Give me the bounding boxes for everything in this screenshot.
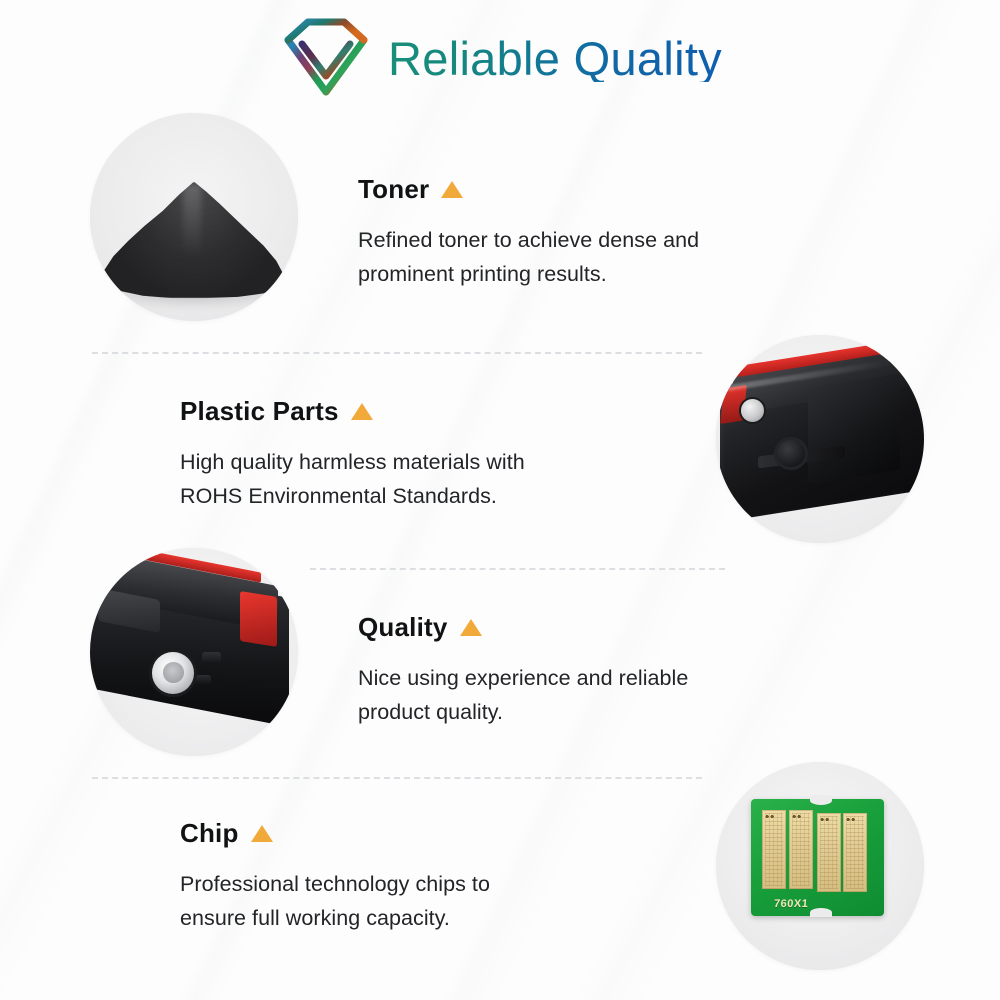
section-plastic-parts: Plastic Parts High quality harmless mate… (180, 398, 620, 514)
section-quality-title: Quality (358, 614, 448, 640)
chip-part-number: 760X1 (774, 898, 809, 910)
page-header: Reliable Quality (0, 8, 1000, 108)
orange-triangle-icon (441, 181, 463, 198)
section-quality: Quality Nice using experience and reliab… (358, 614, 778, 730)
orange-triangle-icon (351, 403, 373, 420)
printer-chip-photo: 760X1 (716, 762, 924, 970)
divider-2 (310, 568, 725, 570)
diamond-check-icon (278, 14, 374, 102)
section-toner-description: Refined toner to achieve dense and promi… (358, 224, 778, 292)
section-plastic-parts-title: Plastic Parts (180, 398, 339, 424)
section-toner-title: Toner (358, 176, 429, 202)
section-chip-title: Chip (180, 820, 239, 846)
section-chip-description: Professional technology chips to ensure … (180, 868, 620, 936)
orange-triangle-icon (460, 619, 482, 636)
section-quality-heading: Quality (358, 614, 778, 640)
toner-powder-photo (90, 113, 298, 321)
section-chip: Chip Professional technology chips to en… (180, 820, 620, 936)
divider-1 (92, 352, 702, 354)
section-toner: Toner Refined toner to achieve dense and… (358, 176, 778, 292)
infographic-page: Reliable Quality Toner Refined toner to … (0, 0, 1000, 1000)
divider-3 (92, 777, 702, 779)
section-chip-heading: Chip (180, 820, 620, 846)
orange-triangle-icon (251, 825, 273, 842)
brand-title: Reliable Quality (388, 35, 722, 82)
toner-cartridge-gear-photo (90, 548, 298, 756)
section-plastic-parts-heading: Plastic Parts (180, 398, 620, 424)
toner-cartridge-photo (716, 335, 924, 543)
section-quality-description: Nice using experience and reliable produ… (358, 662, 778, 730)
section-plastic-parts-description: High quality harmless materials with ROH… (180, 446, 620, 514)
section-toner-heading: Toner (358, 176, 778, 202)
